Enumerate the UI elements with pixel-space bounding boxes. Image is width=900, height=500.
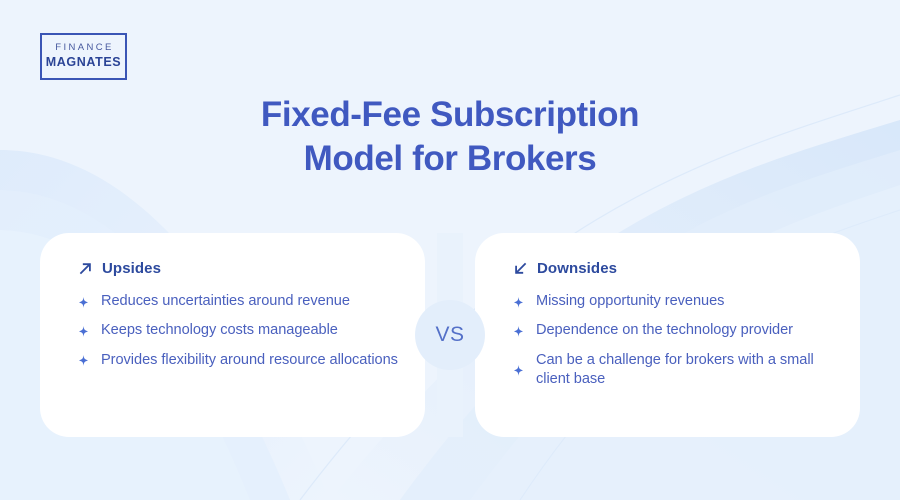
list-item-text: Reduces uncertainties around revenue <box>101 292 350 311</box>
finance-magnates-logo: FINANCE MAGNATES <box>40 33 127 80</box>
downsides-card-title: Downsides <box>537 260 617 277</box>
upsides-card: Upsides Reduces uncertainties around rev… <box>40 233 425 437</box>
page-title-line-1: Fixed-Fee Subscription <box>0 93 900 137</box>
upsides-card-header: Upsides <box>78 260 399 277</box>
vs-badge-label: VS <box>435 323 464 347</box>
arrow-up-right-icon <box>78 261 93 276</box>
arrow-down-left-icon <box>513 261 528 276</box>
list-item: Keeps technology costs manageable <box>78 321 399 340</box>
list-item-text: Missing opportunity revenues <box>536 292 724 311</box>
list-item: Reduces uncertainties around revenue <box>78 292 399 311</box>
upsides-list: Reduces uncertainties around revenue Kee… <box>78 292 399 370</box>
list-item-text: Keeps technology costs manageable <box>101 321 338 340</box>
page-title-line-2: Model for Brokers <box>0 137 900 181</box>
downsides-list: Missing opportunity revenues Dependence … <box>513 292 834 389</box>
vs-badge: VS <box>415 300 485 370</box>
sparkle-bullet-icon <box>78 297 89 308</box>
sparkle-bullet-icon <box>513 297 524 308</box>
sparkle-bullet-icon <box>513 365 524 376</box>
page-title: Fixed-Fee Subscription Model for Brokers <box>0 93 900 182</box>
list-item: Dependence on the technology provider <box>513 321 834 340</box>
sparkle-bullet-icon <box>513 326 524 337</box>
list-item-text: Dependence on the technology provider <box>536 321 793 340</box>
downsides-card: Downsides Missing opportunity revenues D… <box>475 233 860 437</box>
logo-text-finance: FINANCE <box>53 43 114 54</box>
downsides-card-header: Downsides <box>513 260 834 277</box>
upsides-card-title: Upsides <box>102 260 161 277</box>
sparkle-bullet-icon <box>78 326 89 337</box>
logo-text-magnates: MAGNATES <box>46 55 121 69</box>
list-item: Can be a challenge for brokers with a sm… <box>513 351 834 390</box>
infographic-canvas: FINANCE MAGNATES Fixed-Fee Subscription … <box>0 0 900 500</box>
list-item-text: Can be a challenge for brokers with a sm… <box>536 351 834 390</box>
list-item: Provides flexibility around resource all… <box>78 351 399 370</box>
list-item-text: Provides flexibility around resource all… <box>101 351 398 370</box>
list-item: Missing opportunity revenues <box>513 292 834 311</box>
sparkle-bullet-icon <box>78 355 89 366</box>
